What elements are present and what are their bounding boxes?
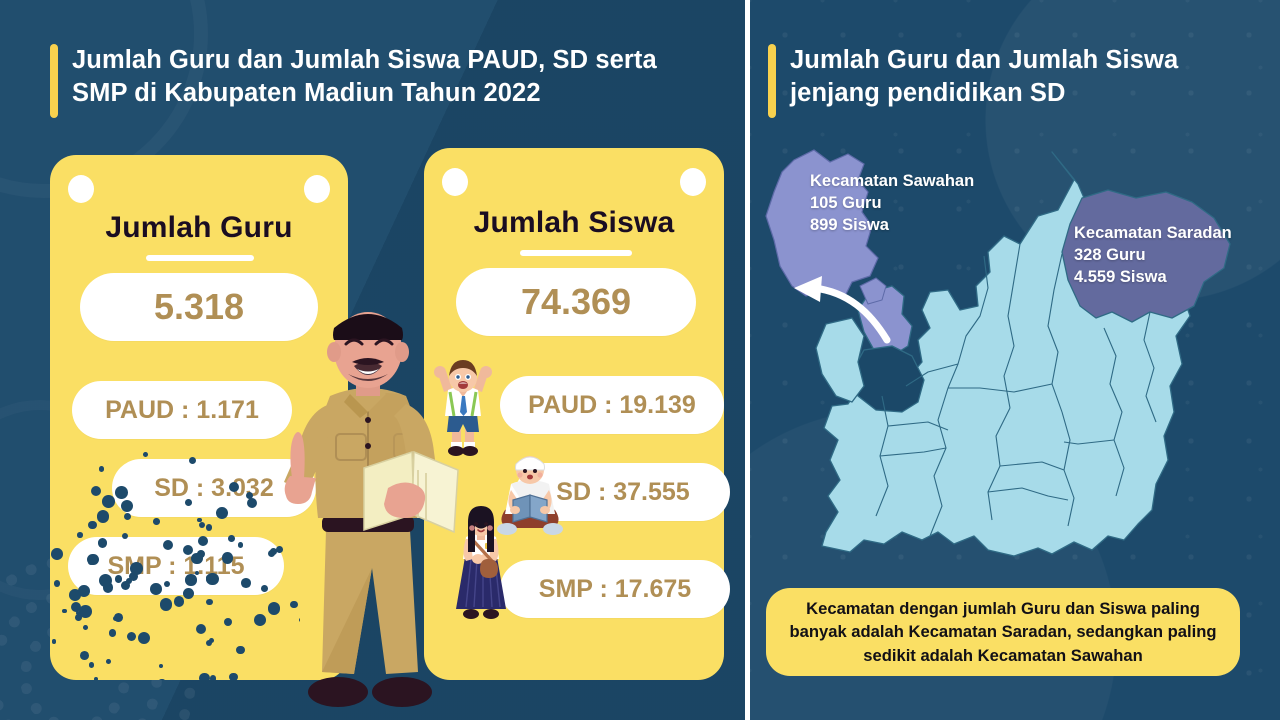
stat-card-guru-row-smp: SMP : 1.115 (68, 537, 284, 595)
stat-card-siswa-rule (520, 250, 632, 256)
map-label-saradan-guru: 328 Guru (1074, 244, 1232, 266)
map-label-saradan-siswa: 4.559 Siswa (1074, 266, 1232, 288)
punch-hole-right-icon (680, 168, 706, 196)
stat-card-siswa-row-paud: PAUD : 19.139 (500, 376, 724, 434)
right-panel-title: Jumlah Guru dan Jumlah Siswa jenjang pen… (768, 44, 1238, 118)
map-label-sawahan-guru: 105 Guru (810, 192, 974, 214)
map-label-sawahan-siswa: 899 Siswa (810, 214, 974, 236)
map-label-sawahan: Kecamatan Sawahan 105 Guru 899 Siswa (810, 170, 974, 236)
stat-card-guru-rule (146, 255, 254, 261)
stat-card-siswa-title: Jumlah Siswa (424, 206, 724, 240)
map-region-left-fringe (816, 318, 864, 402)
left-panel-title-text: Jumlah Guru dan Jumlah Siswa PAUD, SD se… (72, 44, 710, 109)
punch-hole-left-icon (68, 175, 94, 203)
infographic-canvas: Jumlah Guru dan Jumlah Siswa PAUD, SD se… (0, 0, 1280, 720)
stat-card-siswa-row-smp: SMP : 17.675 (500, 560, 730, 618)
right-panel-title-text: Jumlah Guru dan Jumlah Siswa jenjang pen… (790, 44, 1238, 109)
map-caption-text: Kecamatan dengan jumlah Guru dan Siswa p… (780, 597, 1226, 668)
map-label-saradan: Kecamatan Saradan 328 Guru 4.559 Siswa (1074, 222, 1232, 288)
title-accent-bar (768, 44, 776, 118)
punch-hole-right-icon (304, 175, 330, 203)
stat-card-guru-title: Jumlah Guru (50, 211, 348, 245)
left-panel-title: Jumlah Guru dan Jumlah Siswa PAUD, SD se… (50, 44, 710, 118)
map-label-sawahan-name: Kecamatan Sawahan (810, 170, 974, 192)
panel-divider (745, 0, 750, 720)
map-label-saradan-name: Kecamatan Saradan (1074, 222, 1232, 244)
stat-card-guru-row-paud: PAUD : 1.171 (72, 381, 292, 439)
map-caption-box: Kecamatan dengan jumlah Guru dan Siswa p… (766, 588, 1240, 676)
title-accent-bar (50, 44, 58, 118)
teacher-illustration (268, 300, 468, 720)
stat-card-siswa-total: 74.369 (456, 268, 696, 336)
punch-hole-left-icon (442, 168, 468, 196)
